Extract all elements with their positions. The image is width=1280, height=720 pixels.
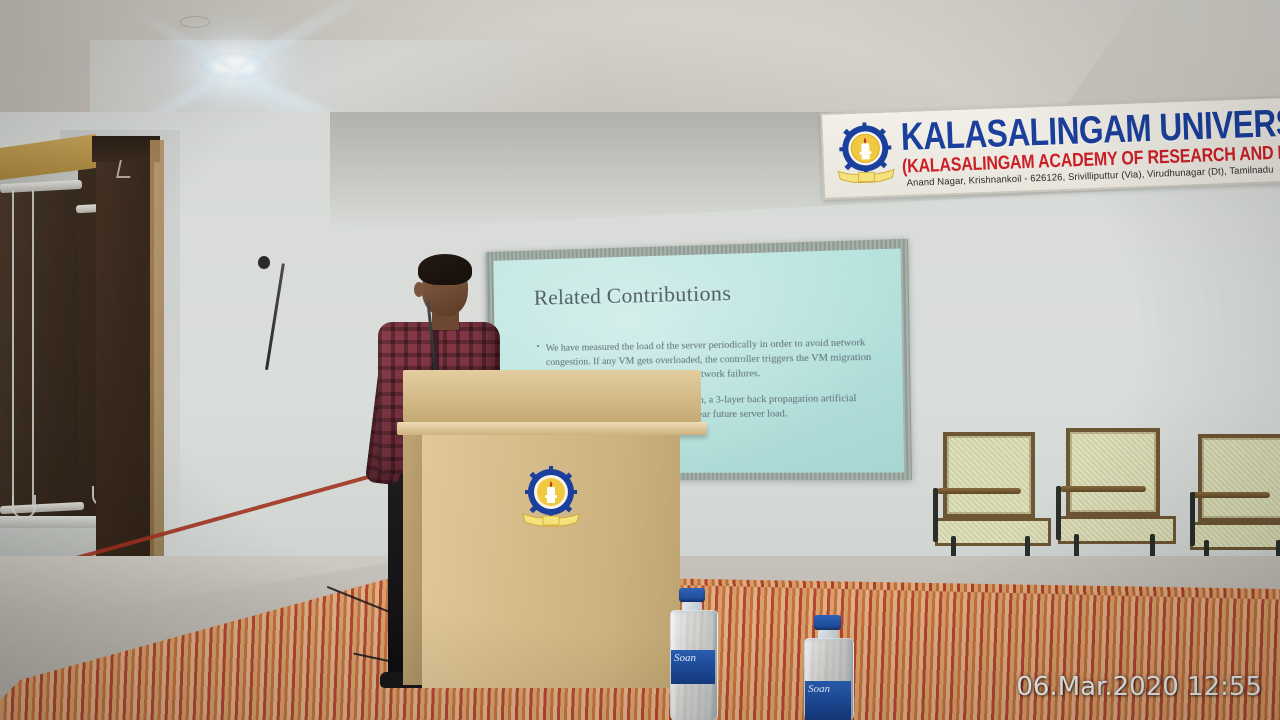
blind-cord[interactable] [32, 190, 34, 508]
blind-cord[interactable] [12, 190, 14, 510]
ceiling-light-core [215, 59, 253, 72]
podium-desktop [403, 370, 701, 422]
bottle-brand-text: Soan [674, 652, 696, 664]
bottle-cap [814, 615, 841, 630]
chair-armrest [937, 488, 1021, 494]
university-banner: KALASALINGAM UNIVERSITY (KALASALINGAM AC… [820, 96, 1280, 200]
podium-front-panel [422, 435, 680, 688]
chair-backrest [943, 432, 1035, 518]
bottle-brand-text: Soan [808, 683, 830, 695]
window-sill [0, 516, 104, 528]
water-bottle[interactable]: Soan [666, 588, 720, 720]
microphone-head-icon [258, 256, 270, 269]
conference-hall-photo: KALASALINGAM UNIVERSITY (KALASALINGAM AC… [0, 0, 1280, 720]
presenter-hair [418, 254, 472, 285]
ceiling-fixture-ring [180, 16, 210, 28]
bottle-label: Soan [805, 681, 851, 720]
chair-armrest [1060, 486, 1146, 492]
presenter-ear [414, 282, 424, 297]
podium-lip [397, 422, 707, 435]
podium-side-panel [403, 435, 423, 685]
podium-emblem-icon [520, 465, 582, 529]
chair-frame [1056, 486, 1061, 540]
chair-armrest [1190, 492, 1270, 498]
podium [403, 370, 701, 688]
bottle-label: Soan [671, 650, 715, 684]
water-bottle[interactable]: Soan [800, 615, 856, 720]
photo-timestamp: 06.Mar.2020 12:55 [1016, 672, 1262, 702]
slide-title: Related Contributions [534, 280, 732, 310]
chair-frame [933, 488, 938, 542]
chair-frame [1190, 492, 1195, 546]
chair-backrest [1198, 434, 1280, 522]
kalasalingam-emblem-icon [834, 121, 896, 185]
bottle-cap [679, 588, 705, 602]
chair-backrest [1066, 428, 1160, 516]
